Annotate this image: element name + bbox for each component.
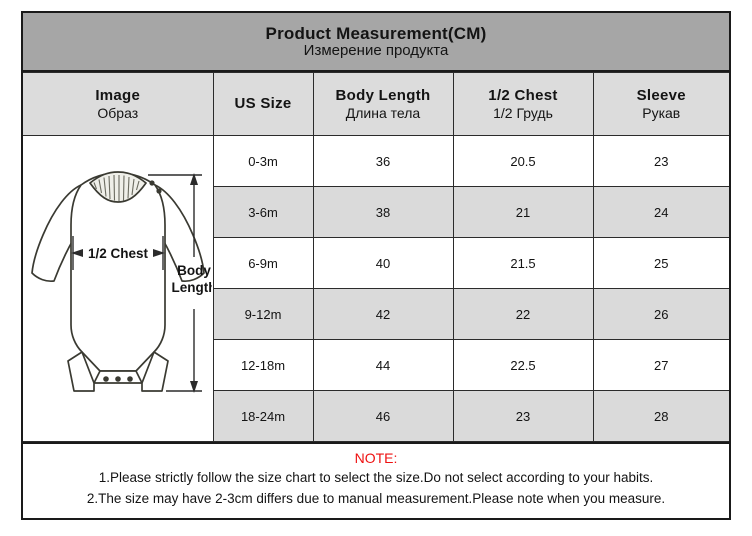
column-header-sleeve-ru: Рукав [594, 105, 730, 121]
column-header-sleeve-en: Sleeve [594, 87, 730, 104]
cell-us-size: 9-12m [213, 289, 313, 340]
chart-title-band: Product Measurement(CM) Измерение продук… [23, 13, 729, 72]
cell-sleeve: 25 [593, 238, 729, 289]
half-chest-label: 1/2 Chest [88, 246, 149, 261]
column-header-image-ru: Образ [23, 105, 213, 121]
note-title: NOTE: [23, 448, 729, 468]
size-chart-container: Product Measurement(CM) Измерение продук… [21, 11, 731, 520]
cell-half-chest: 22 [453, 289, 593, 340]
cell-us-size: 18-24m [213, 391, 313, 442]
column-header-body-length-ru: Длина тела [314, 105, 453, 121]
baby-bodysuit-svg: Body Length [24, 139, 212, 439]
column-header-sleeve: Sleeve Рукав [593, 73, 729, 136]
chart-title-main: Product Measurement(CM) [266, 24, 487, 43]
column-header-half-chest-en: 1/2 Chest [454, 87, 593, 104]
cell-sleeve: 26 [593, 289, 729, 340]
cell-body-length: 40 [313, 238, 453, 289]
note-line-2: 2.The size may have 2-3cm differs due to… [23, 489, 729, 509]
cell-sleeve: 24 [593, 187, 729, 238]
cell-half-chest: 21.5 [453, 238, 593, 289]
column-header-image: Image Образ [23, 73, 213, 136]
column-header-image-en: Image [23, 87, 213, 104]
chart-title-subtitle: Измерение продукта [304, 43, 449, 60]
cell-half-chest: 23 [453, 391, 593, 442]
cell-half-chest: 20.5 [453, 136, 593, 187]
cell-us-size: 3-6m [213, 187, 313, 238]
product-diagram-cell: Body Length [23, 136, 213, 442]
cell-half-chest: 21 [453, 187, 593, 238]
body-length-label-line2: Length [171, 280, 212, 295]
cell-sleeve: 23 [593, 136, 729, 187]
cell-sleeve: 28 [593, 391, 729, 442]
cell-body-length: 46 [313, 391, 453, 442]
column-header-body-length: Body Length Длина тела [313, 73, 453, 136]
cell-body-length: 42 [313, 289, 453, 340]
cell-body-length: 36 [313, 136, 453, 187]
table-header-row: Image Образ US Size Body Length Длина те… [23, 73, 729, 136]
column-header-body-length-en: Body Length [314, 87, 453, 104]
measurement-table: Image Образ US Size Body Length Длина те… [23, 72, 729, 442]
cell-half-chest: 22.5 [453, 340, 593, 391]
column-header-us-size: US Size [213, 73, 313, 136]
table-row: Body Length [23, 136, 729, 187]
body-length-label-line1: Body [177, 263, 211, 278]
cell-us-size: 12-18m [213, 340, 313, 391]
baby-bodysuit-icon: Body Length [24, 139, 212, 439]
cell-body-length: 44 [313, 340, 453, 391]
cell-body-length: 38 [313, 187, 453, 238]
crotch-snap-buttons [103, 376, 133, 382]
cell-us-size: 6-9m [213, 238, 313, 289]
column-header-half-chest: 1/2 Chest 1/2 Грудь [453, 73, 593, 136]
cell-sleeve: 27 [593, 340, 729, 391]
cell-us-size: 0-3m [213, 136, 313, 187]
note-line-1: 1.Please strictly follow the size chart … [23, 468, 729, 488]
column-header-half-chest-ru: 1/2 Грудь [454, 105, 593, 121]
note-section: NOTE: 1.Please strictly follow the size … [23, 442, 729, 510]
column-header-us-size-en: US Size [214, 95, 313, 112]
